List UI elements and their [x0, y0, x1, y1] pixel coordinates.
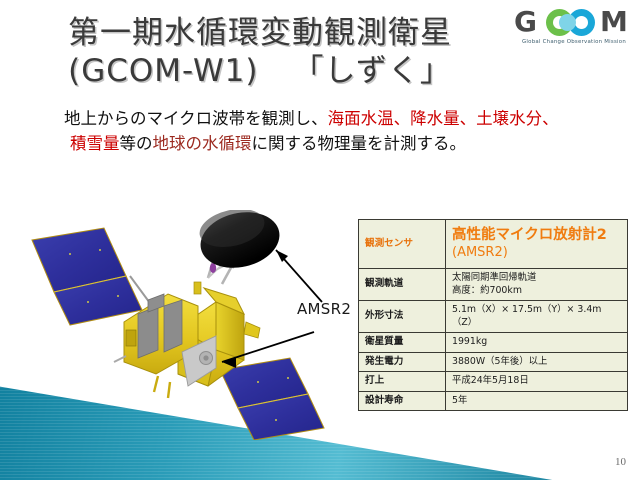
spec-label-launch: 打上	[359, 372, 446, 392]
logo-letter-m: M	[600, 8, 628, 36]
logo-blue-ring-hole	[575, 16, 588, 29]
solar-panel-upper	[32, 228, 142, 325]
table-row: 外形寸法 5.1m（X）× 17.5m（Y）× 3.4m（Z）	[359, 301, 628, 333]
title-line-2: (GCOM-W1)「しずく」	[0, 52, 520, 90]
gcom-logo-mark: G M	[512, 8, 634, 38]
callout-arrow-to-antenna	[276, 250, 322, 302]
spec-value-dimensions: 5.1m（X）× 17.5m（Y）× 3.4m（Z）	[446, 301, 628, 333]
lead-text-plain-1: 地上からのマイクロ波帯を観測し、	[64, 109, 328, 128]
spec-label-design-life: 設計寿命	[359, 391, 446, 411]
table-row: 発生電力 3880W（5年後）以上	[359, 352, 628, 372]
lead-text-plain-3: に関する物理量を計測する。	[252, 134, 467, 153]
satellite-illustration	[8, 210, 358, 440]
spec-value-sensor: 高性能マイクロ放射計2 (AMSR2)	[446, 220, 628, 269]
gcom-logo: G M Global Change Observation Mission	[512, 8, 634, 54]
spec-value-orbit-main: 太陽同期準回帰軌道	[452, 272, 536, 283]
logo-cyan-overlap-icon	[559, 14, 576, 31]
spec-label-power: 発生電力	[359, 352, 446, 372]
lead-highlight-water-cycle: 地球の水循環	[153, 134, 252, 153]
table-row: 衛星質量 1991kg	[359, 333, 628, 353]
spec-value-orbit-altitude: 高度：約700km	[452, 285, 621, 298]
title-line-1: 第一期水循環変動観測衛星	[0, 14, 520, 52]
lead-highlight-parameters: 海面水温、降水量、土壌水分、	[328, 109, 559, 128]
table-row: 観測軌道 太陽同期準回帰軌道 高度：約700km	[359, 269, 628, 301]
logo-tagline: Global Change Observation Mission	[515, 39, 633, 46]
specification-table: 観測センサ 高性能マイクロ放射計2 (AMSR2) 観測軌道 太陽同期準回帰軌道…	[358, 219, 628, 411]
lead-line-1: 地上からのマイクロ波帯を観測し、海面水温、降水量、土壌水分、	[64, 109, 559, 128]
title-nickname: 「しずく」	[292, 53, 451, 89]
amsr2-callout-label: AMSR2	[297, 300, 351, 318]
table-row: 打上 平成24年5月18日	[359, 372, 628, 392]
spec-value-design-life: 5年	[446, 391, 628, 411]
spec-value-mass: 1991kg	[446, 333, 628, 353]
amsr2-antenna-dish	[195, 210, 285, 275]
lead-highlight-snow: 積雪量	[70, 134, 120, 153]
solar-panel-lower	[220, 358, 324, 440]
spec-label-dimensions: 外形寸法	[359, 301, 446, 333]
logo-letter-g: G	[514, 8, 537, 36]
spec-label-orbit: 観測軌道	[359, 269, 446, 301]
lead-paragraph: 地上からのマイクロ波帯を観測し、海面水温、降水量、土壌水分、 積雪量等の地球の水…	[64, 106, 584, 156]
spec-value-sensor-main: 高性能マイクロ放射計2	[452, 227, 607, 243]
spec-label-sensor: 観測センサ	[359, 220, 446, 269]
page-title: 第一期水循環変動観測衛星 (GCOM-W1)「しずく」	[0, 14, 520, 90]
page-number: 10	[615, 456, 626, 468]
spec-value-orbit: 太陽同期準回帰軌道 高度：約700km	[446, 269, 628, 301]
table-row: 観測センサ 高性能マイクロ放射計2 (AMSR2)	[359, 220, 628, 269]
specification-table-body: 観測センサ 高性能マイクロ放射計2 (AMSR2) 観測軌道 太陽同期準回帰軌道…	[359, 220, 628, 411]
spec-label-mass: 衛星質量	[359, 333, 446, 353]
lead-line-2: 積雪量等の地球の水循環に関する物理量を計測する。	[70, 131, 584, 156]
spec-value-launch: 平成24年5月18日	[446, 372, 628, 392]
lead-text-plain-2: 等の	[120, 134, 153, 153]
spec-value-power: 3880W（5年後）以上	[446, 352, 628, 372]
slide-canvas: 第一期水循環変動観測衛星 (GCOM-W1)「しずく」 G M Global C…	[0, 0, 640, 480]
table-row: 設計寿命 5年	[359, 391, 628, 411]
spec-value-sensor-sub: (AMSR2)	[452, 244, 621, 262]
title-mission-id: (GCOM-W1)	[68, 53, 258, 89]
